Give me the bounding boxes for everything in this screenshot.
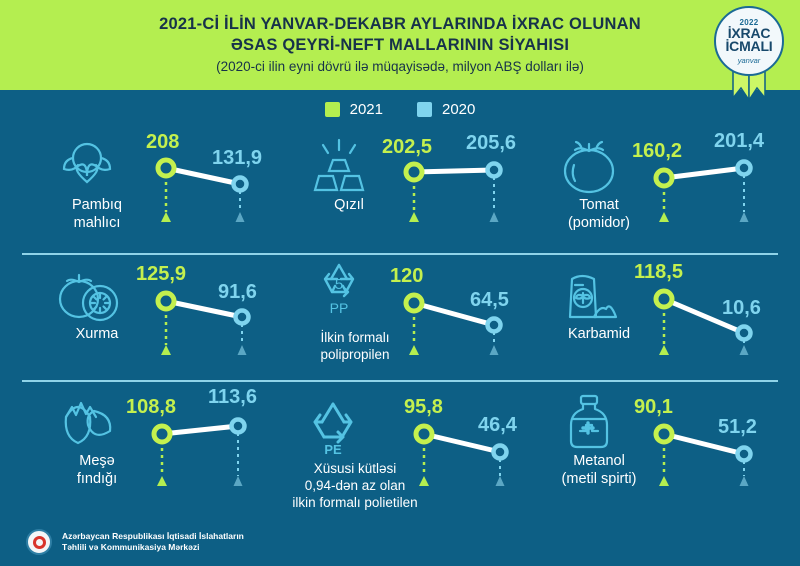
chart-row-3: Meşə fındığı 108,8 113,6 xyxy=(22,380,778,507)
chart-item-polipropilen: 5 PP İlkin formalı polipropilen 12 xyxy=(274,255,524,380)
value-2020: 205,6 xyxy=(466,132,516,155)
legend-label-2021: 2021 xyxy=(350,101,383,118)
item-chart: 160,2 201,4 xyxy=(632,126,778,253)
chart-item-xurma: Xurma 125,9 91,6 xyxy=(22,255,274,380)
methanol-bottle-icon xyxy=(546,392,632,454)
svg-text:PE: PE xyxy=(324,442,342,456)
item-chart: 118,5 10,6 xyxy=(632,255,778,382)
value-2020: 51,2 xyxy=(718,416,757,439)
footer: Azərbaycan Respublikası İqtisadi İslahat… xyxy=(0,518,800,566)
item-chart: 95,8 46,4 xyxy=(382,382,524,509)
cotton-boll-icon xyxy=(44,136,130,198)
persimmon-icon xyxy=(44,265,130,327)
page-subtitle: (2020-ci ilin eyni dövrü ilə müqayisədə,… xyxy=(216,57,584,77)
legend-swatch-2020 xyxy=(417,102,432,117)
chart-row-2: Xurma 125,9 91,6 xyxy=(22,253,778,380)
chart-item-qizil: Qızıl 202,5 205,6 xyxy=(274,126,524,253)
value-2020: 91,6 xyxy=(218,281,257,304)
value-2020: 64,5 xyxy=(470,289,509,312)
recycle-pe-icon: PE xyxy=(290,396,376,458)
page-title-line1: 2021-Cİ İLİN YANVAR-DEKABR AYLARINDA İXR… xyxy=(159,14,641,35)
chart-row-1: Pambıq mahlıcı 208 131,9 xyxy=(22,126,778,253)
legend-item-2021: 2021 xyxy=(325,101,383,118)
chart-legend: 2021 2020 xyxy=(0,92,800,126)
item-chart: 202,5 205,6 xyxy=(382,126,524,253)
page-title-line2: ƏSAS QEYRİ-NEFT MALLARININ SİYAHISI xyxy=(231,35,569,56)
value-2021: 202,5 xyxy=(382,136,432,159)
chart-item-polietilen: PE Xüsusi kütləsi 0,94-dən az olan ilkin… xyxy=(274,382,524,507)
footer-organization: Azərbaycan Respublikası İqtisadi İslahat… xyxy=(62,531,244,554)
value-2020: 10,6 xyxy=(722,297,761,320)
item-chart: 90,1 51,2 xyxy=(632,382,778,509)
value-2020: 131,9 xyxy=(212,147,262,170)
ixrac-icmali-badge: 2022 İXRAC İCMALI yanvar xyxy=(710,4,788,108)
legend-item-2020: 2020 xyxy=(417,101,475,118)
value-2021: 120 xyxy=(390,265,423,288)
recycle-pp-icon: 5 PP xyxy=(296,259,382,321)
item-chart: 120 64,5 xyxy=(382,255,524,382)
chart-item-pambiq-mahlici: Pambıq mahlıcı 208 131,9 xyxy=(22,126,274,253)
value-2021: 160,2 xyxy=(632,140,682,163)
legend-swatch-2021 xyxy=(325,102,340,117)
badge-seal: 2022 İXRAC İCMALI yanvar xyxy=(714,6,784,76)
fertilizer-bag-icon xyxy=(546,265,632,327)
badge-month: yanvar xyxy=(738,56,761,65)
value-2021: 90,1 xyxy=(634,396,673,419)
svg-text:PP: PP xyxy=(330,300,349,316)
hazelnut-icon xyxy=(44,392,130,454)
item-chart: 125,9 91,6 xyxy=(130,255,274,382)
header-banner: 2021-Cİ İLİN YANVAR-DEKABR AYLARINDA İXR… xyxy=(0,0,800,90)
azerbaijan-emblem-icon xyxy=(26,529,52,555)
legend-label-2020: 2020 xyxy=(442,101,475,118)
value-2020: 46,4 xyxy=(478,414,517,437)
svg-text:5: 5 xyxy=(335,276,343,293)
item-chart: 108,8 113,6 xyxy=(130,382,274,509)
value-2021: 118,5 xyxy=(634,261,683,284)
gold-bars-icon xyxy=(296,136,382,198)
value-2021: 125,9 xyxy=(136,263,186,286)
item-chart: 208 131,9 xyxy=(130,126,274,253)
badge-line2: İCMALI xyxy=(725,40,772,54)
chart-item-tomat: Tomat (pomidor) 160,2 201,4 xyxy=(524,126,778,253)
value-2021: 208 xyxy=(146,131,179,154)
chart-item-metanol: Metanol (metil spirti) 90,1 51,2 xyxy=(524,382,778,507)
value-2021: 108,8 xyxy=(126,396,176,419)
chart-item-mese-findigi: Meşə fındığı 108,8 113,6 xyxy=(22,382,274,507)
chart-item-karbamid: Karbamid 118,5 10,6 xyxy=(524,255,778,380)
tomato-icon xyxy=(546,136,632,198)
chart-grid: Pambıq mahlıcı 208 131,9 xyxy=(0,126,800,507)
value-2021: 95,8 xyxy=(404,396,443,419)
value-2020: 113,6 xyxy=(208,386,257,409)
value-2020: 201,4 xyxy=(714,130,764,153)
